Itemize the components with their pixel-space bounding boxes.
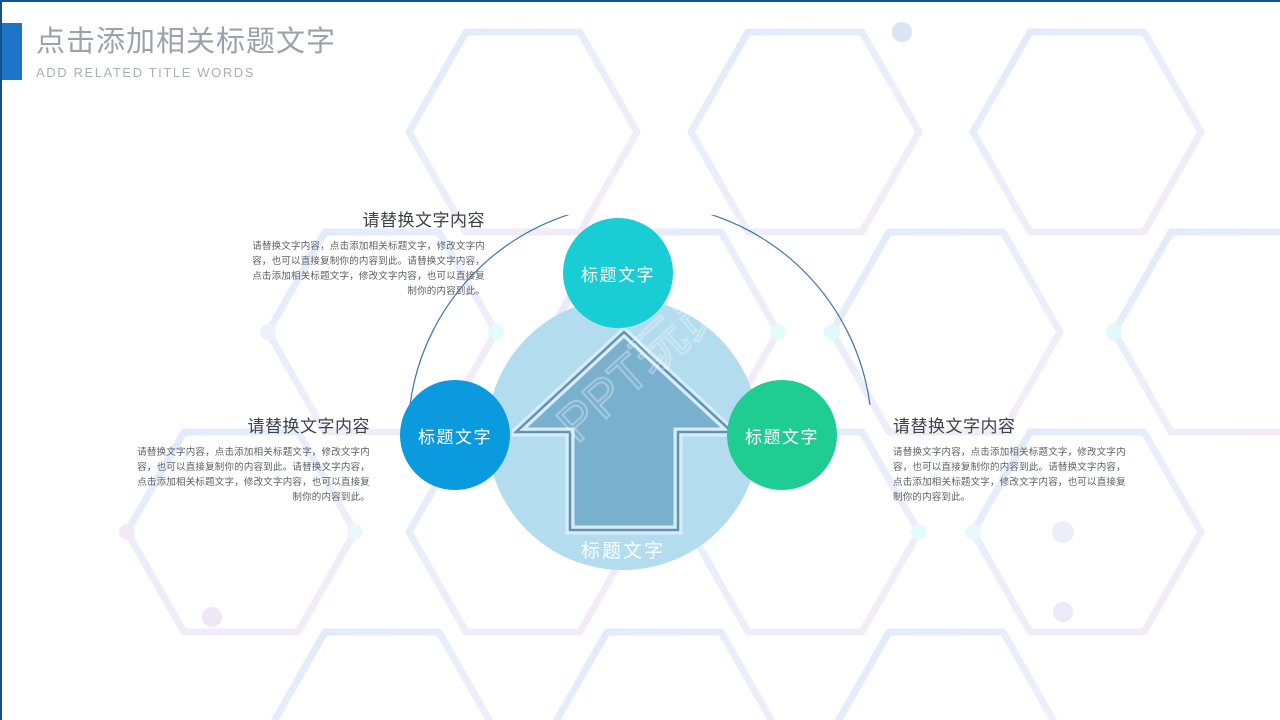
text-block-left-body: 请替换文字内容，点击添加相关标题文字，修改文字内容，也可以直接复制你的内容到此。…: [130, 445, 370, 505]
node-top[interactable]: 标题文字: [563, 218, 673, 328]
slide-left-rule: [0, 0, 2, 720]
text-block-left[interactable]: 请替换文字内容 请替换文字内容，点击添加相关标题文字，修改文字内容，也可以直接复…: [130, 414, 370, 505]
up-arrow-icon: [512, 328, 736, 540]
text-block-right-title: 请替换文字内容: [893, 414, 1133, 440]
hub-label: 标题文字: [487, 536, 759, 563]
slide-canvas: 点击添加相关标题文字 ADD RELATED TITLE WORDS PPT玩员…: [0, 0, 1280, 720]
text-block-left-title: 请替换文字内容: [130, 414, 370, 440]
diagram-stage: PPT玩员 标题文字 标题文字 标题文字 标题文字: [0, 0, 1280, 720]
text-block-right[interactable]: 请替换文字内容 请替换文字内容，点击添加相关标题文字，修改文字内容，也可以直接复…: [893, 414, 1133, 505]
text-block-right-body: 请替换文字内容，点击添加相关标题文字，修改文字内容，也可以直接复制你的内容到此。…: [893, 445, 1133, 505]
text-block-top-left[interactable]: 请替换文字内容 请替换文字内容，点击添加相关标题文字，修改文字内容，也可以直接复…: [245, 208, 485, 299]
node-right-label: 标题文字: [745, 423, 819, 448]
text-block-top-left-title: 请替换文字内容: [245, 208, 485, 234]
node-left[interactable]: 标题文字: [400, 380, 510, 490]
node-right[interactable]: 标题文字: [727, 380, 837, 490]
node-left-label: 标题文字: [418, 423, 492, 448]
node-top-label: 标题文字: [581, 261, 655, 286]
title-accent-bar: [0, 23, 22, 80]
page-title: 点击添加相关标题文字: [36, 22, 336, 62]
text-block-top-left-body: 请替换文字内容，点击添加相关标题文字，修改文字内容，也可以直接复制你的内容到此。…: [245, 239, 485, 299]
page-subtitle: ADD RELATED TITLE WORDS: [36, 64, 336, 82]
page-header: 点击添加相关标题文字 ADD RELATED TITLE WORDS: [36, 22, 336, 82]
slide-top-rule: [0, 0, 1280, 2]
